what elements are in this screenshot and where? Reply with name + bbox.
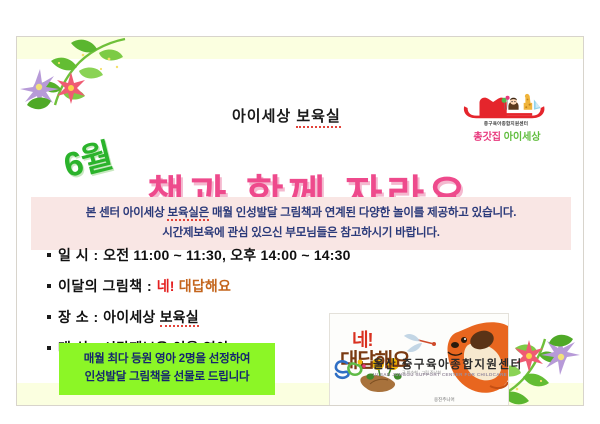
info-value-book-title: 대답해요 — [179, 278, 231, 294]
description-line-1: 본 센터 아이세상 보육실은 매월 인성발달 그림책과 연계된 다양한 놀이를 … — [31, 203, 571, 223]
info-value-place: 아이세상 보육실 — [103, 307, 199, 327]
bullet-icon — [47, 346, 51, 350]
description-line-1-spell: 보육실은 — [167, 207, 209, 221]
subtitle-spellchecked: 보육실 — [296, 108, 340, 128]
info-row-book: 이달의 그림책 : 네! 대답해요 — [47, 276, 347, 296]
info-value-book: 네! 대답해요 — [157, 276, 231, 296]
info-label-book: 이달의 그림책 : — [58, 276, 152, 296]
bottom-center-logo: 울산 중구육아종합지원센터 ULSAN JUNGGU SUPPORT CENTE… — [333, 355, 523, 383]
center-logo-name-part2: 아이세상 — [504, 132, 541, 143]
bullet-icon — [47, 284, 51, 288]
bullet-icon — [47, 253, 51, 257]
center-logo-caption: 중구육아종합지원센터 — [465, 121, 547, 127]
child-icon — [508, 98, 518, 110]
info-label-datetime: 일 시 : — [58, 245, 99, 265]
sc-swirl-logo-icon — [333, 358, 367, 380]
giraffe-icon — [524, 94, 533, 110]
info-row-datetime: 일 시 : 오전 11:00 ~ 11:30, 오후 14:00 ~ 14:30 — [47, 245, 347, 265]
bottom-logo-english: ULSAN JUNGGU SUPPORT CENTER FOR CHILDCAR… — [373, 373, 523, 378]
info-value-datetime: 오전 11:00 ~ 11:30, 오후 14:00 ~ 14:30 — [103, 245, 350, 265]
info-value-place-spell: 보육실 — [160, 309, 199, 327]
description-line-2: 시간제보육에 관심 있으신 부모님들은 참고하시기 바랍니다. — [31, 223, 571, 243]
info-row-place: 장 소 : 아이세상 보육실 — [47, 307, 347, 327]
green-box-line-1: 매월 최다 등원 영아 2명을 선정하여 — [63, 350, 271, 368]
month-badge: 6월 — [58, 128, 117, 187]
ark-logo-icon — [451, 91, 559, 125]
center-logo-name: 총갓집 아이세상 — [459, 128, 555, 143]
poster-page: 아이세상 보육실 6월 책과 함께 자라요 — [0, 0, 600, 424]
description-line-1-c: 매월 인성발달 그림책과 연계된 다양한 놀이를 제공하고 있습니다. — [209, 207, 516, 219]
green-highlight-box: 매월 최다 등원 영아 2명을 선정하여 인성발달 그림책을 선물로 드립니다 — [59, 343, 275, 395]
info-value-book-exclaim: 네! — [157, 278, 175, 294]
bottom-logo-korean: 울산 중구육아종합지원센터 — [373, 360, 523, 372]
green-box-line-2: 인성발달 그림책을 선물로 드립니다 — [63, 368, 271, 386]
poster-frame: 아이세상 보육실 6월 책과 함께 자라요 — [16, 36, 584, 406]
center-logo: 중구육아종합지원센터 총갓집 아이세상 — [451, 91, 559, 151]
book-publisher: 웅진주니어 — [434, 397, 455, 403]
info-label-place: 장 소 : — [58, 307, 99, 327]
top-cream-band — [17, 37, 583, 59]
poster-subtitle: 아이세상 보육실 — [232, 105, 341, 126]
description-band: 본 센터 아이세상 보육실은 매월 인성발달 그림책과 연계된 다양한 놀이를 … — [31, 197, 571, 250]
bullet-icon — [47, 315, 51, 319]
subtitle-plain: 아이세상 — [232, 108, 296, 125]
description-line-1-a: 본 센터 아이세상 — [86, 207, 168, 219]
sail-icon — [534, 100, 541, 110]
info-value-place-plain: 아이세상 — [103, 309, 159, 325]
bottom-logo-text: 울산 중구육아종합지원센터 ULSAN JUNGGU SUPPORT CENTE… — [373, 360, 523, 378]
center-logo-name-part1: 총갓집 — [473, 132, 501, 143]
